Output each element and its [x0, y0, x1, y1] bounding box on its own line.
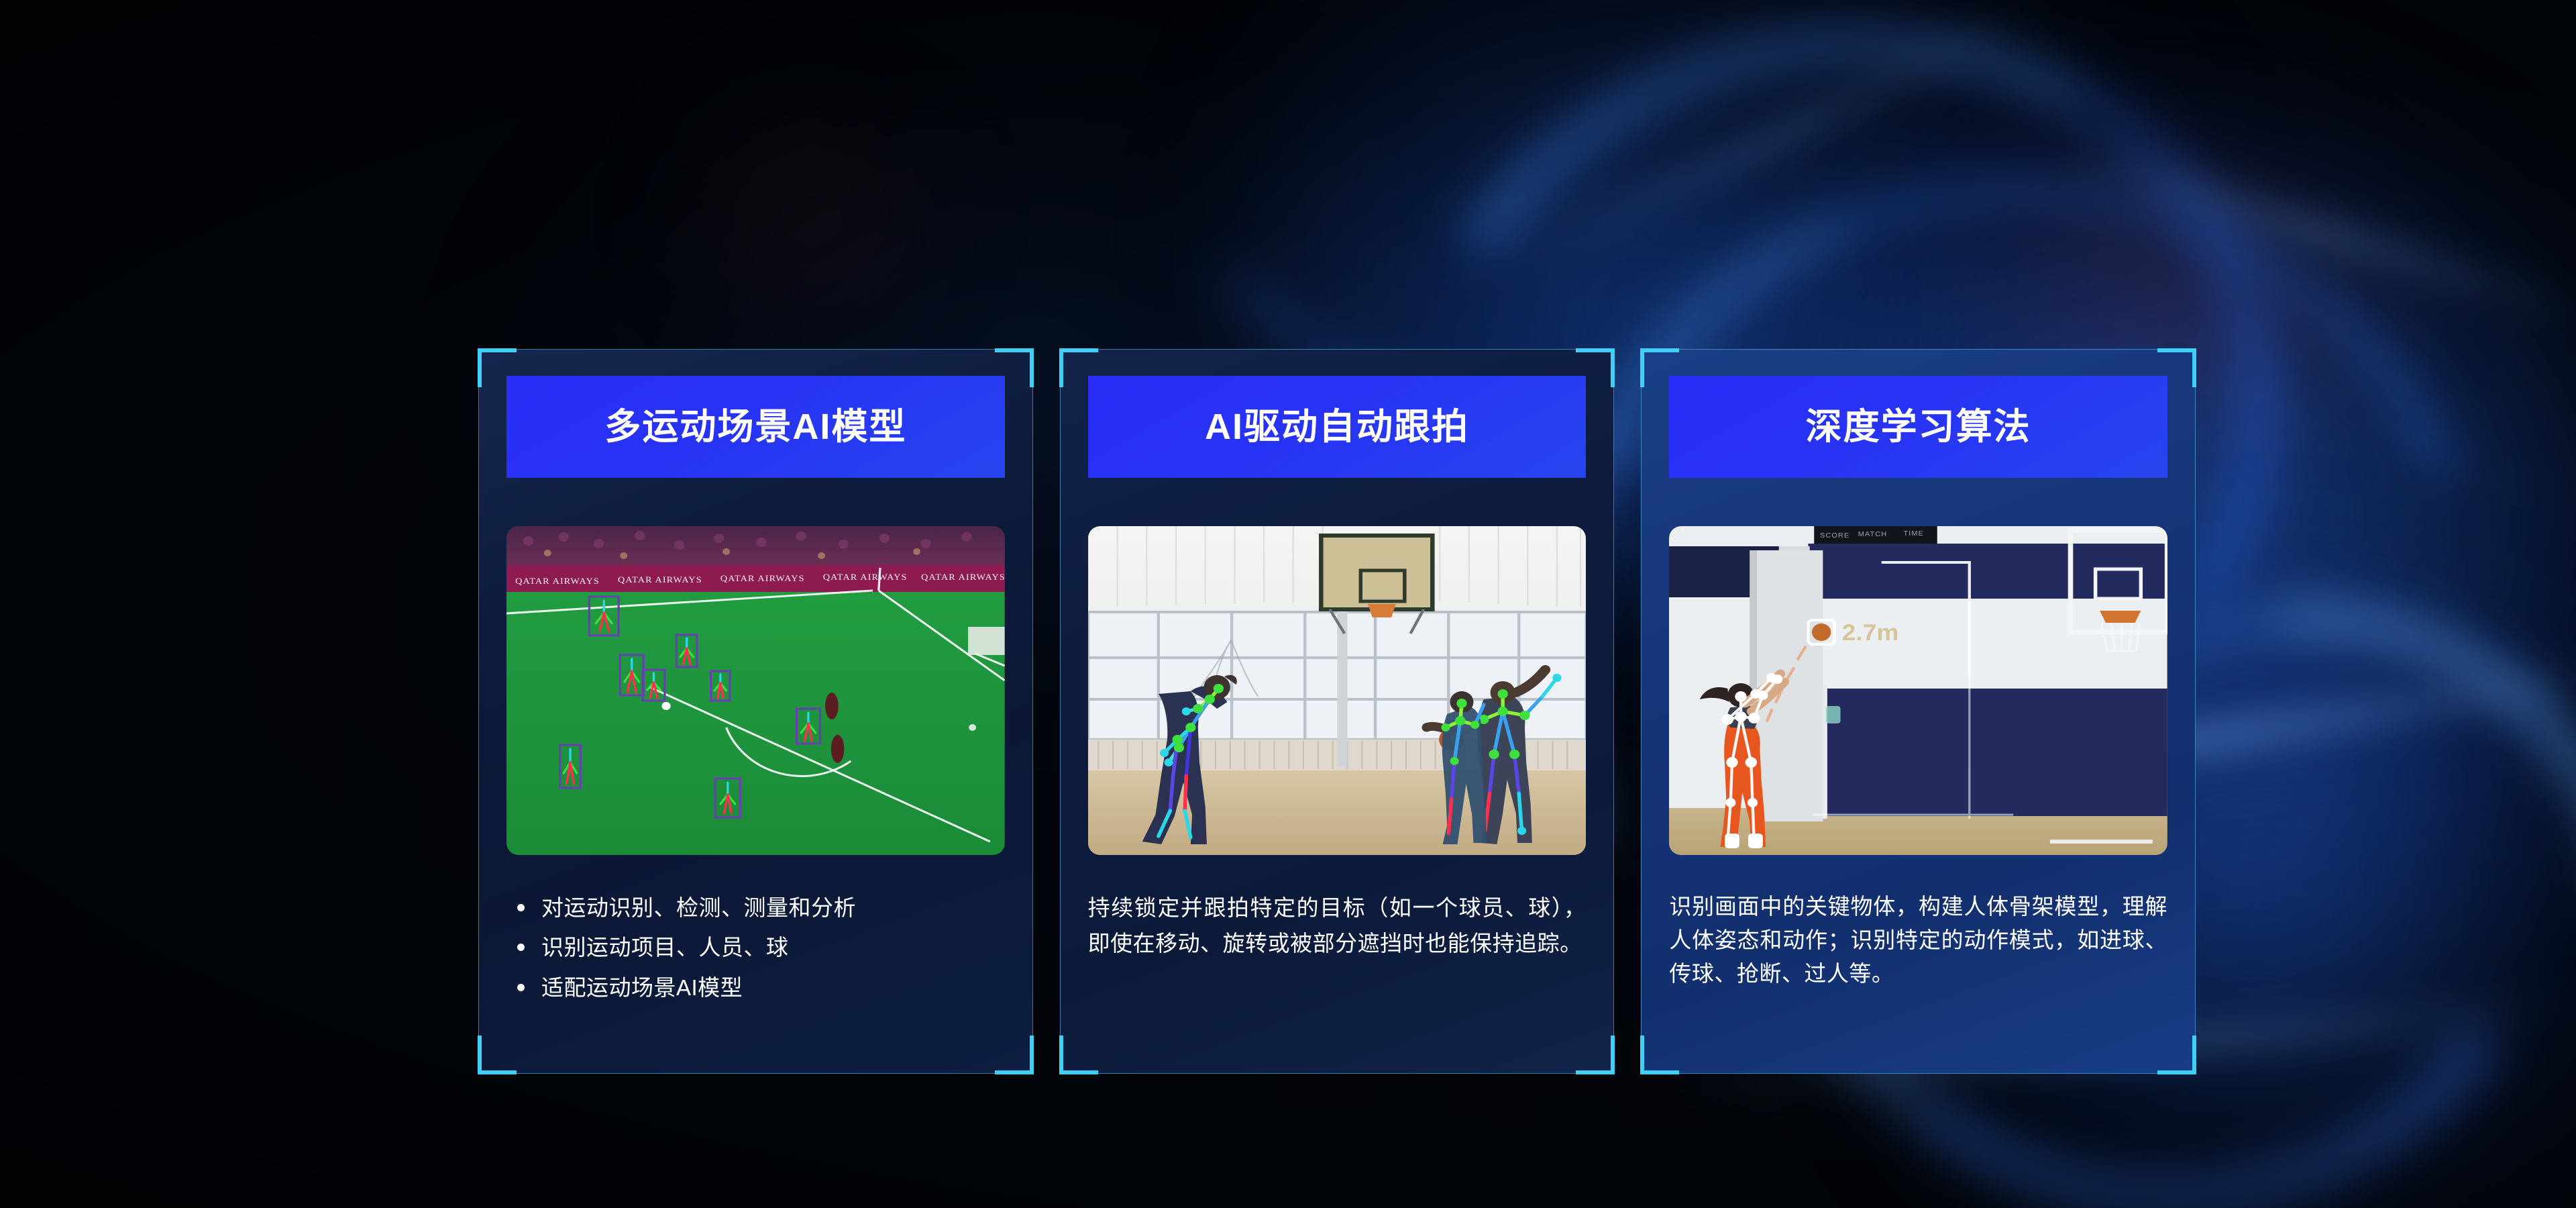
svg-text:QATAR AIRWAYS: QATAR AIRWAYS	[515, 576, 600, 586]
card-body: 识别画面中的关键物体，构建人体骨架模型，理解人体姿态和动作；识别特定的动作模式，…	[1669, 890, 2167, 991]
list-item: 对运动识别、检测、测量和分析	[506, 890, 1005, 925]
card-title-bar: 多运动场景AI模型	[506, 376, 1005, 478]
feature-card-deep-learning-algorithm[interactable]: 深度学习算法	[1641, 349, 2196, 1074]
svg-text:QATAR AIRWAYS: QATAR AIRWAYS	[921, 572, 1005, 582]
card-title-bar: AI驱动自动跟拍	[1088, 376, 1587, 478]
feature-bullet-list: 对运动识别、检测、测量和分析 识别运动项目、人员、球 适配运动场景AI模型	[506, 890, 1005, 1005]
card-body: 持续锁定并跟拍特定的目标（如一个球员、球），即使在移动、旋转或被部分遮挡时也能保…	[1088, 890, 1587, 962]
card-title-bar: 深度学习算法	[1669, 376, 2167, 478]
card-title: AI驱动自动跟拍	[1205, 409, 1469, 445]
card-body: 对运动识别、检测、测量和分析 识别运动项目、人员、球 适配运动场景AI模型	[506, 890, 1005, 1005]
card-paragraph: 持续锁定并跟拍特定的目标（如一个球员、球），即使在移动、旋转或被部分遮挡时也能保…	[1088, 890, 1587, 962]
svg-text:SCORE: SCORE	[1820, 532, 1849, 540]
feature-card-ai-auto-tracking[interactable]: AI驱动自动跟拍	[1060, 349, 1615, 1074]
feature-card-multi-sport-ai-model[interactable]: 多运动场景AI模型	[478, 349, 1033, 1074]
card-title: 多运动场景AI模型	[604, 409, 906, 445]
list-item: 识别运动项目、人员、球	[506, 929, 1005, 965]
indoor-basketball-pose-thumbnail	[1088, 526, 1587, 855]
list-item: 适配运动场景AI模型	[506, 970, 1005, 1005]
card-title: 深度学习算法	[1806, 409, 2031, 445]
svg-text:TIME: TIME	[1904, 530, 1924, 538]
distance-label: 2.7m	[1842, 619, 1899, 645]
basketball-shot-tracking-thumbnail: SCOREMATCHTIME	[1669, 526, 2167, 855]
svg-text:MATCH: MATCH	[1858, 531, 1887, 538]
svg-text:QATAR AIRWAYS: QATAR AIRWAYS	[823, 572, 908, 582]
card-paragraph: 识别画面中的关键物体，构建人体骨架模型，理解人体姿态和动作；识别特定的动作模式，…	[1669, 890, 2167, 991]
soccer-pitch-detection-thumbnail: QATAR AIRWAYS QATAR AIRWAYS QATAR AIRWAY…	[506, 526, 1005, 855]
feature-card-row: 多运动场景AI模型	[478, 349, 2196, 1074]
svg-text:QATAR AIRWAYS: QATAR AIRWAYS	[618, 575, 702, 585]
svg-text:QATAR AIRWAYS: QATAR AIRWAYS	[720, 574, 805, 583]
